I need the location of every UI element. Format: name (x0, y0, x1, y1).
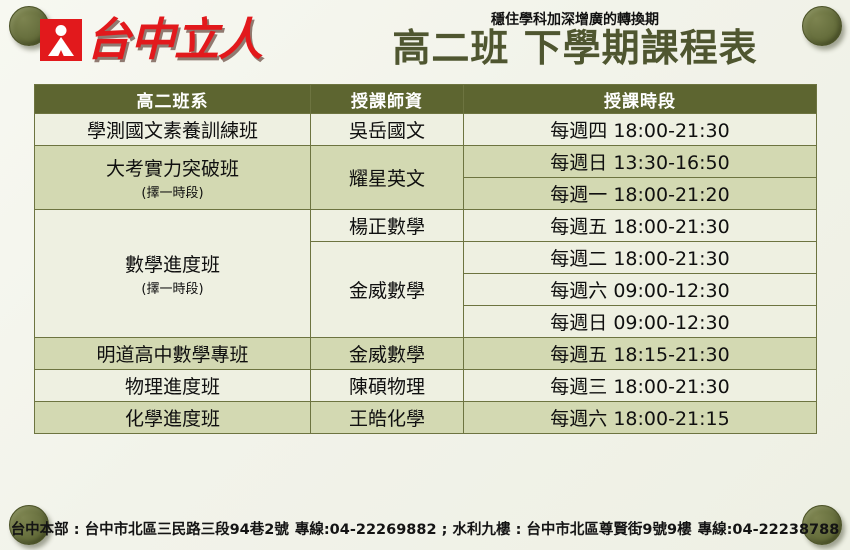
class-name-cell: 化學進度班 (35, 402, 311, 434)
table-row: 學測國文素養訓練班 吳岳國文 每週四 18:00-21:30 (35, 114, 817, 146)
time-slot-cell: 每週三 18:00-21:30 (464, 370, 817, 402)
class-name-label: 學測國文素養訓練班 (87, 120, 258, 142)
teacher-cell: 陳碩物理 (311, 370, 464, 402)
footer-branch1-phone: 專線:04-22269882 (295, 522, 437, 538)
time-slot-cell: 每週五 18:00-21:30 (464, 210, 817, 242)
time-slot-label: 每週六 09:00-12:30 (550, 280, 729, 302)
time-slot-label: 每週日 13:30-16:50 (550, 152, 729, 174)
time-slot-cell: 每週四 18:00-21:30 (464, 114, 817, 146)
course-schedule-poster: 台中立人 穩住學科加深增廣的轉換期 高二班 下學期課程表 高二班系 授課師資 授… (0, 0, 850, 550)
table-row: 物理進度班 陳碩物理 每週三 18:00-21:30 (35, 370, 817, 402)
class-name-label: 物理進度班 (125, 376, 220, 398)
class-name-note: (擇一時段) (39, 182, 306, 201)
schedule-table: 高二班系 授課師資 授課時段 學測國文素養訓練班 吳岳國文 每週四 18:00-… (34, 84, 817, 434)
column-header-class: 高二班系 (35, 85, 311, 114)
brand-logo: 台中立人 (40, 17, 262, 62)
title-block: 穩住學科加深增廣的轉換期 高二班 下學期課程表 (340, 0, 810, 69)
class-name-cell: 大考實力突破班 (擇一時段) (35, 146, 311, 210)
teacher-cell: 王皓化學 (311, 402, 464, 434)
time-slot-label: 每週四 18:00-21:30 (550, 120, 729, 142)
time-slot-cell: 每週一 18:00-21:20 (464, 178, 817, 210)
class-name-label: 明道高中數學專班 (96, 344, 248, 366)
person-in-square-icon (40, 19, 82, 61)
table-row: 數學進度班 (擇一時段) 楊正數學 每週五 18:00-21:30 (35, 210, 817, 242)
time-slot-label: 每週二 18:00-21:30 (550, 248, 729, 270)
teacher-label: 楊正數學 (349, 216, 425, 238)
page-title: 高二班 下學期課程表 (340, 28, 810, 69)
table-row: 化學進度班 王皓化學 每週六 18:00-21:15 (35, 402, 817, 434)
footer-contact-bar: 台中本部 : 台中市北區三民路三段94巷2號專線:04-22269882 ; 水… (0, 518, 850, 539)
time-slot-cell: 每週五 18:15-21:30 (464, 338, 817, 370)
teacher-label: 金威數學 (349, 280, 425, 302)
class-name-label: 大考實力突破班 (106, 158, 239, 180)
teacher-label: 金威數學 (349, 344, 425, 366)
column-header-teacher: 授課師資 (311, 85, 464, 114)
class-name-note: (擇一時段) (39, 278, 306, 297)
footer-divider: ; (442, 522, 448, 538)
table-row: 大考實力突破班 (擇一時段) 耀星英文 每週日 13:30-16:50 (35, 146, 817, 178)
class-name-cell: 物理進度班 (35, 370, 311, 402)
time-slot-label: 每週三 18:00-21:30 (550, 376, 729, 398)
time-slot-label: 每週五 18:15-21:30 (550, 344, 729, 366)
teacher-cell: 吳岳國文 (311, 114, 464, 146)
logo-figure-notch (56, 50, 66, 61)
teacher-cell: 楊正數學 (311, 210, 464, 242)
time-slot-cell: 每週六 18:00-21:15 (464, 402, 817, 434)
class-name-label: 數學進度班 (125, 254, 220, 276)
teacher-label: 吳岳國文 (349, 120, 425, 142)
footer-branch2-phone: 專線:04-22238788 (698, 522, 840, 538)
column-header-time: 授課時段 (464, 85, 817, 114)
time-slot-label: 每週一 18:00-21:20 (550, 184, 729, 206)
class-name-cell: 學測國文素養訓練班 (35, 114, 311, 146)
poster-subtitle: 穩住學科加深增廣的轉換期 (340, 0, 810, 29)
class-name-label: 化學進度班 (125, 408, 220, 430)
teacher-cell: 金威數學 (311, 338, 464, 370)
time-slot-label: 每週日 09:00-12:30 (550, 312, 729, 334)
time-slot-cell: 每週日 13:30-16:50 (464, 146, 817, 178)
teacher-label: 陳碩物理 (349, 376, 425, 398)
time-slot-label: 每週五 18:00-21:30 (550, 216, 729, 238)
time-slot-cell: 每週二 18:00-21:30 (464, 242, 817, 274)
logo-figure-head (56, 25, 67, 36)
schedule-table-wrapper: 高二班系 授課師資 授課時段 學測國文素養訓練班 吳岳國文 每週四 18:00-… (34, 84, 816, 434)
time-slot-label: 每週六 18:00-21:15 (550, 408, 729, 430)
class-name-cell: 明道高中數學專班 (35, 338, 311, 370)
teacher-label: 耀星英文 (349, 168, 425, 190)
class-name-cell: 數學進度班 (擇一時段) (35, 210, 311, 338)
footer-branch2-address: 水利九樓 : 台中市北區尊賢街9號9樓 (453, 522, 692, 538)
poster-header: 台中立人 穩住學科加深增廣的轉換期 高二班 下學期課程表 (0, 0, 850, 84)
teacher-label: 王皓化學 (349, 408, 425, 430)
table-header-row: 高二班系 授課師資 授課時段 (35, 85, 817, 114)
teacher-cell: 金威數學 (311, 242, 464, 338)
brand-logo-text: 台中立人 (86, 17, 262, 62)
teacher-cell: 耀星英文 (311, 146, 464, 210)
time-slot-cell: 每週日 09:00-12:30 (464, 306, 817, 338)
time-slot-cell: 每週六 09:00-12:30 (464, 274, 817, 306)
footer-branch1-address: 台中本部 : 台中市北區三民路三段94巷2號 (11, 522, 289, 538)
table-row: 明道高中數學專班 金威數學 每週五 18:15-21:30 (35, 338, 817, 370)
